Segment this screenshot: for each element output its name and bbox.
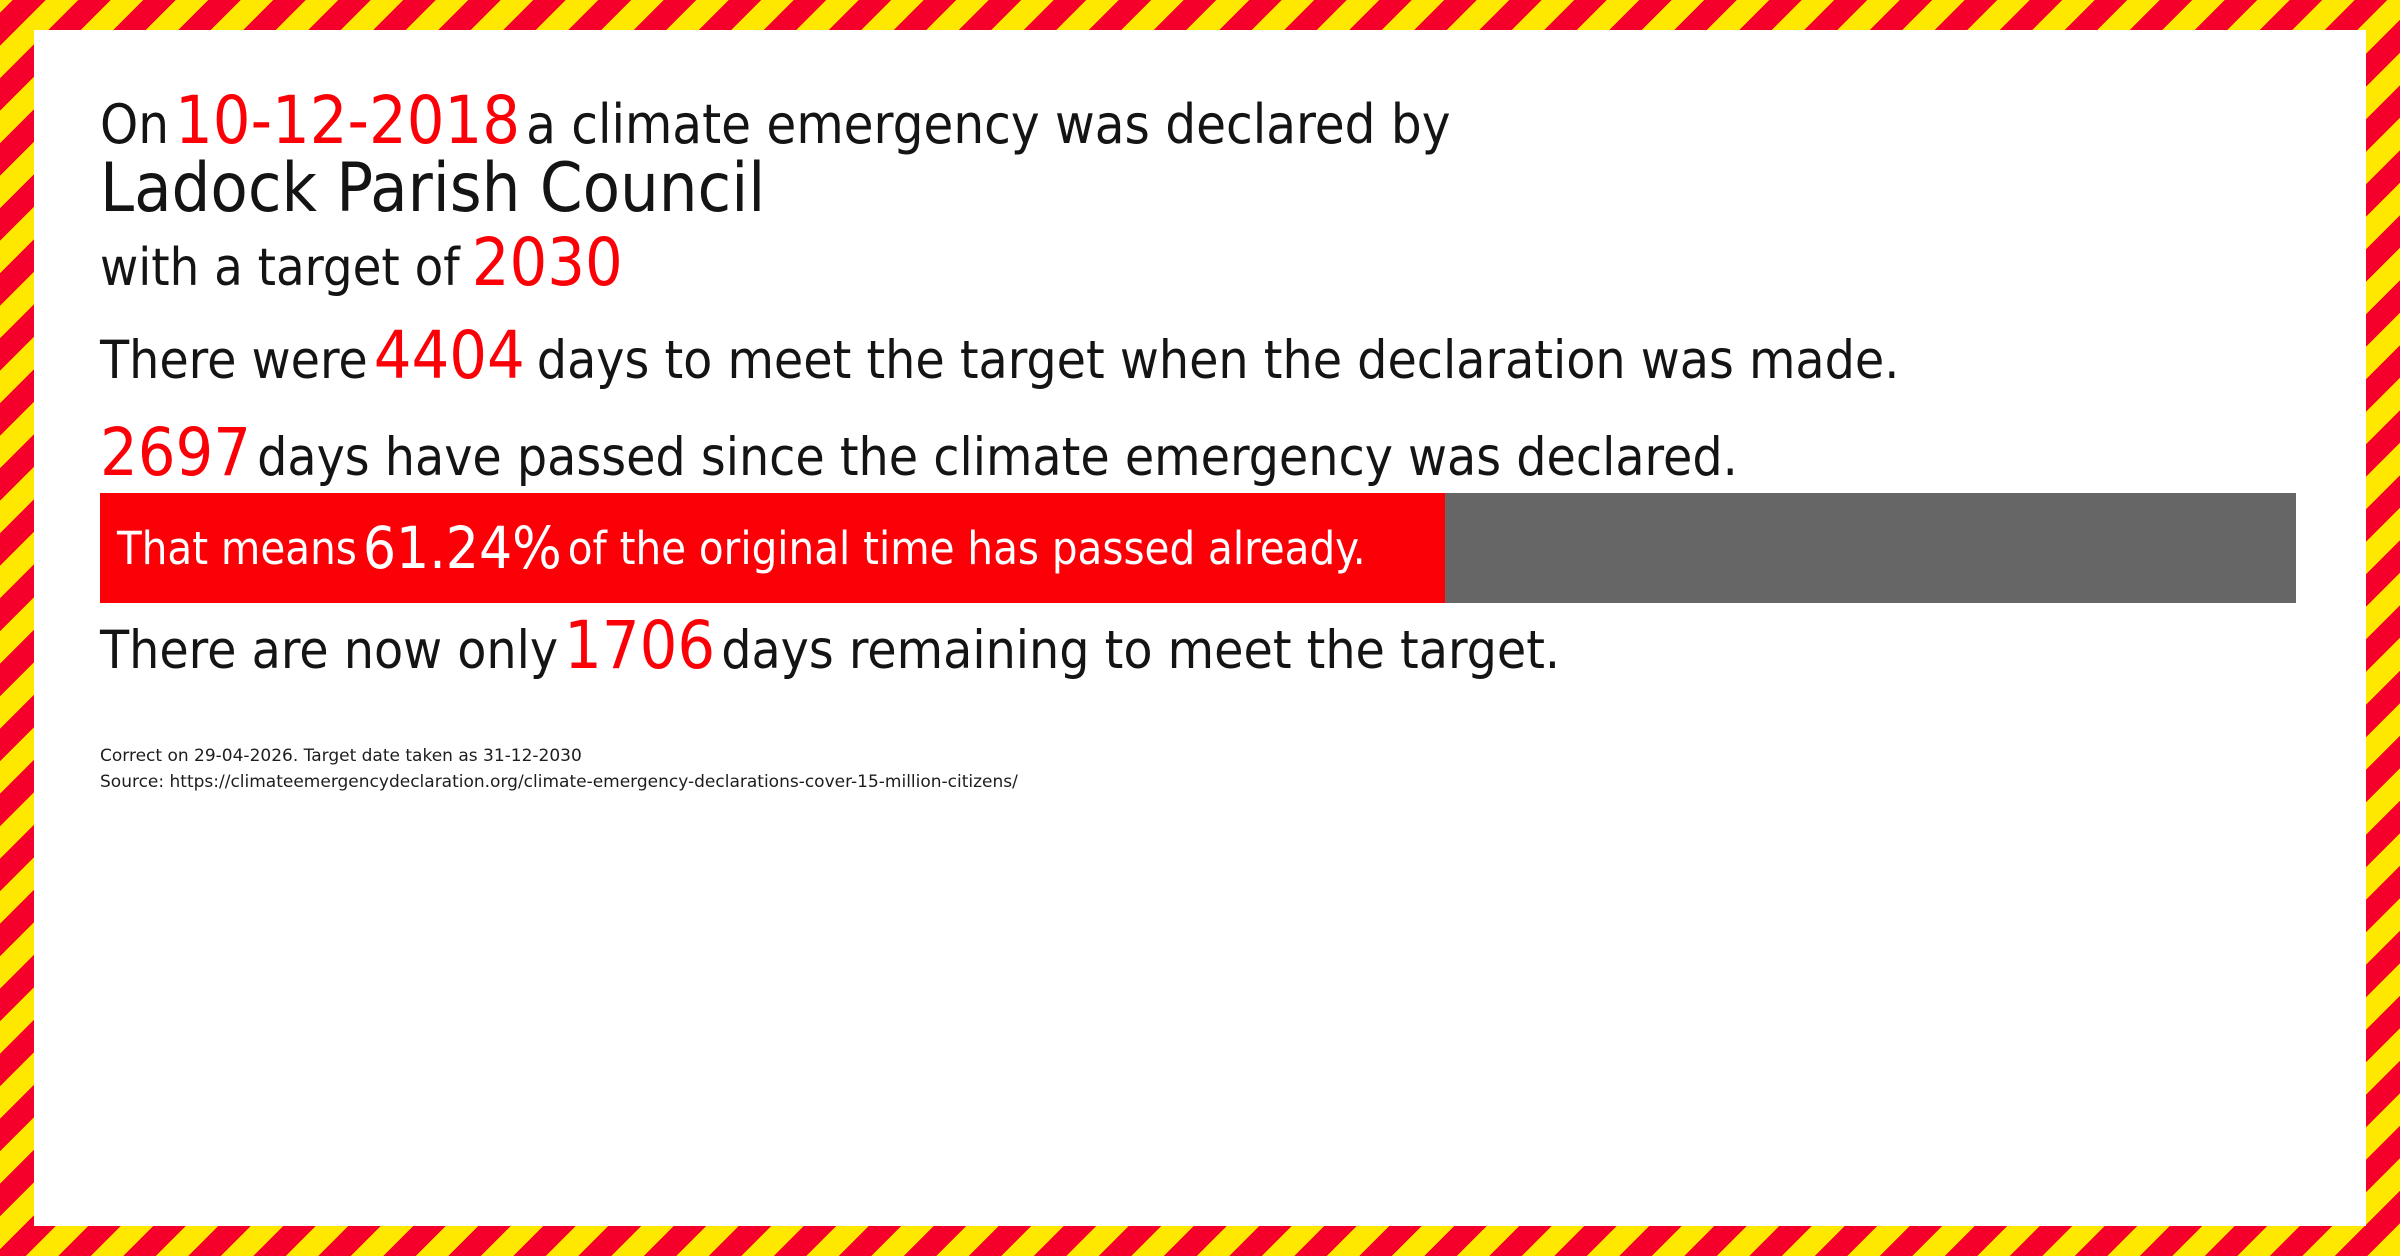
declaration-suffix: a climate emergency was declared by — [526, 93, 1450, 156]
target-line: with a target of2030 — [100, 230, 623, 296]
council-name: Ladock Parish Council — [100, 155, 765, 223]
content-area: On10-12-2018a climate emergency was decl… — [100, 30, 2326, 1226]
total-days-value: 4404 — [374, 317, 525, 394]
time-progress-label: That means61.24%of the original time has… — [117, 493, 1366, 603]
progress-suffix: of the original time has passed already. — [568, 522, 1366, 575]
target-prefix: with a target of — [100, 238, 460, 298]
time-progress-bar: That means61.24%of the original time has… — [100, 493, 2296, 603]
total-days-prefix: There were — [100, 330, 368, 391]
target-year: 2030 — [472, 224, 623, 301]
total-days-line: There were4404days to meet the target wh… — [100, 323, 1899, 389]
remaining-prefix: There are now only — [100, 620, 558, 681]
declaration-headline: On10-12-2018a climate emergency was decl… — [100, 88, 1451, 154]
total-days-suffix: days to meet the target when the declara… — [537, 330, 1900, 391]
passed-days-suffix: days have passed since the climate emerg… — [257, 427, 1738, 488]
declaration-date: 10-12-2018 — [175, 82, 520, 159]
passed-days-line: 2697days have passed since the climate e… — [100, 420, 1738, 486]
poster-canvas: On10-12-2018a climate emergency was decl… — [34, 30, 2366, 1226]
poster-frame: On10-12-2018a climate emergency was decl… — [0, 0, 2400, 1256]
footnote-source: Source: https://climateemergencydeclarat… — [100, 770, 1018, 796]
remaining-days-value: 1706 — [564, 607, 715, 684]
footnote: Correct on 29-04-2026. Target date taken… — [100, 744, 1018, 795]
remaining-suffix: days remaining to meet the target. — [721, 620, 1560, 681]
passed-days-value: 2697 — [100, 414, 251, 491]
progress-percent: 61.24% — [363, 514, 562, 582]
progress-prefix: That means — [117, 522, 357, 575]
declaration-prefix: On — [100, 93, 169, 156]
footnote-correct-on: Correct on 29-04-2026. Target date taken… — [100, 744, 1018, 770]
remaining-days-line: There are now only1706days remaining to … — [100, 613, 1560, 679]
